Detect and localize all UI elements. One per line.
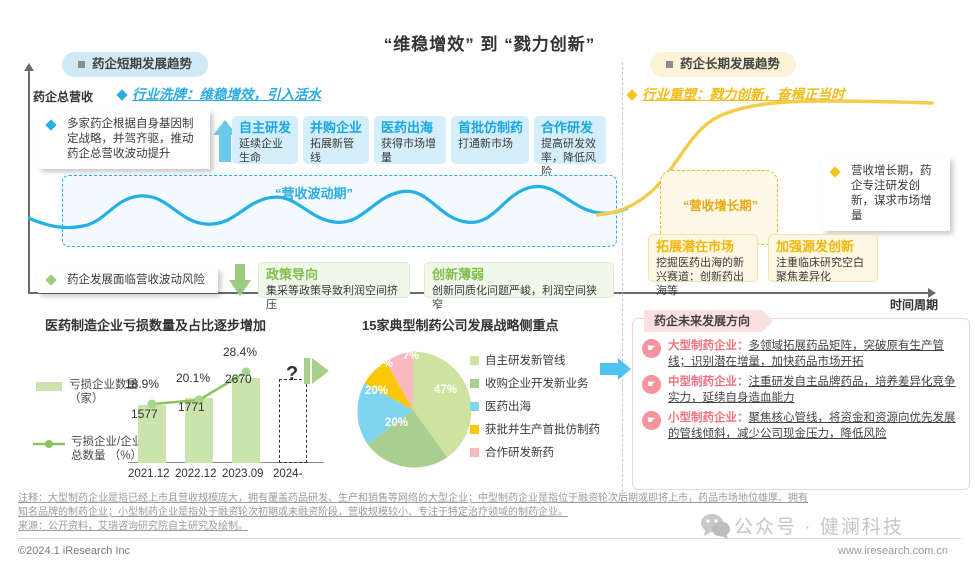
diamond-bullet-icon xyxy=(116,90,127,101)
pie-value-2: 20% xyxy=(365,385,388,397)
infographic-root: “维稳增效” 到 “戮力创新” 药企总营收 时间周期 药企短期发展趋势 药企长期… xyxy=(0,0,979,565)
long-term-note: 营收增长期，药企专注研发创新，谋求市场增量 xyxy=(822,157,950,231)
y-axis-label: 药企总营收 xyxy=(33,88,93,105)
legend-swatch-icon xyxy=(470,425,479,434)
transition-arrow-tail xyxy=(304,358,310,384)
long-term-card-0[interactable]: 拓展潜在市场挖掘医药出海的新兴赛道：创新药出海等 xyxy=(648,234,758,282)
future-item-0: ☛ 大型制药企业：多领域拓展药品矩阵，突破原有生产管线；识别潜在增量，加快药品市… xyxy=(642,338,962,370)
legend-swatch-icon xyxy=(470,379,479,388)
pct-label-2022: 20.1% xyxy=(176,371,210,385)
revenue-wave-curve xyxy=(28,160,628,260)
future-item-2: ☛ 小型制药企业：聚焦核心管线，将资金和资源向优先发展的管线倾斜，减少公司现金压… xyxy=(642,410,962,442)
pie-value-3: 7% xyxy=(377,358,393,370)
diamond-bullet-icon xyxy=(45,274,56,285)
long-term-pill: 药企长期发展趋势 xyxy=(650,52,796,77)
bar-chart: 亏损企业数量（家） 亏损企业/企业总数量 （%） 18.9% xyxy=(24,335,324,480)
strategy-card-1[interactable]: 并购企业拓展新管线 xyxy=(303,116,369,164)
short-term-pill-label: 药企短期发展趋势 xyxy=(92,57,192,71)
x-label-2024: 2024- xyxy=(273,468,302,480)
risk-note-text: 药企发展面临营收波动风险 xyxy=(67,273,209,288)
pointing-hand-icon: ☛ xyxy=(642,411,661,430)
copyright: ©2024.1 iResearch Inc xyxy=(18,545,130,557)
bar-value-2024: ? xyxy=(286,363,298,386)
pie-legend-item-3: 获批并生产首批仿制药 xyxy=(470,421,600,437)
x-label-2022: 2022.12 xyxy=(175,468,217,480)
pct-label-2023: 28.4% xyxy=(223,345,257,359)
pointing-hand-icon: ☛ xyxy=(642,339,661,358)
wechat-icon xyxy=(700,512,730,538)
transition-arrow-icon xyxy=(312,358,329,384)
legend-swatch-bar xyxy=(36,382,62,391)
pie-legend-item-1: 收购企业开发新业务 xyxy=(470,375,600,391)
pct-label-2021: 18.9% xyxy=(125,377,159,391)
pie-chart-title: 15家典型制药公司发展战略侧重点 xyxy=(362,315,558,334)
bar-value-2022: 1771 xyxy=(178,400,205,414)
x-label-2023: 2023.09 xyxy=(222,468,264,480)
pie-value-4: 7% xyxy=(403,350,419,362)
pie-legend-item-4: 合作研发新药 xyxy=(470,444,600,460)
square-bullet-icon xyxy=(666,61,673,68)
pie-legend: 自主研发新管线 收购企业开发新业务 医药出海 获批并生产首批仿制药 合作研发新药 xyxy=(470,352,600,467)
bar-chart-title: 医药制造企业亏损数量及占比逐步增加 xyxy=(45,315,266,334)
square-bullet-icon xyxy=(78,61,85,68)
legend-swatch-icon xyxy=(470,356,479,365)
website-url: www.iresearch.com.cn xyxy=(838,545,948,557)
bar-plot-area: 18.9% 20.1% 28.4% 1577 1771 2670 ? xyxy=(128,345,324,463)
x-label-2021: 2021.12 xyxy=(128,468,170,480)
footnote-line-1: 注释：大型制药企业是指已经上市且营收规模庞大，拥有覆盖药品研发、生产和销售等网络… xyxy=(18,492,808,506)
strategy-card-3[interactable]: 首批仿制药打通新市场 xyxy=(451,116,529,164)
long-term-note-text: 营收增长期，药企专注研发创新，谋求市场增量 xyxy=(851,164,941,224)
legend-swatch-icon xyxy=(470,448,479,457)
future-arrow-icon xyxy=(600,358,632,382)
long-term-pill-label: 药企长期发展趋势 xyxy=(680,57,780,71)
bar-value-2023: 2670 xyxy=(225,372,252,386)
revenue-growth-label: “营收增长期” xyxy=(668,195,773,214)
short-term-bottom-note: 药企发展面临营收波动风险 xyxy=(38,268,218,293)
footnote-line-3: 来源：公开资料，艾瑞咨询研究院自主研究及绘制。 xyxy=(18,520,248,534)
future-item-2-key: 小型制药企业： xyxy=(668,412,749,424)
wechat-account: 公众号 · 健澜科技 xyxy=(734,512,904,539)
strategy-card-2[interactable]: 医药出海获得市场增量 xyxy=(374,116,446,164)
short-term-pill: 药企短期发展趋势 xyxy=(62,52,208,77)
risk-card-1[interactable]: 创新薄弱创新同质化问题严峻，利润空间狭窄 xyxy=(424,262,614,298)
future-item-1-key: 中型制药企业： xyxy=(668,376,749,388)
pie-value-1: 20% xyxy=(385,417,408,429)
diamond-bullet-icon xyxy=(829,166,840,177)
future-item-1: ☛ 中型制药企业：注重研发自主品牌药品，培养差异化竞争实力，延续自身造血能力 xyxy=(642,374,962,406)
pie-legend-item-0: 自主研发新管线 xyxy=(470,352,600,368)
risk-card-0[interactable]: 政策导向集采等政策导致利润空间挤压 xyxy=(258,262,410,298)
future-item-0-key: 大型制药企业： xyxy=(668,340,749,352)
strategy-card-0[interactable]: 自主研发延续企业生命 xyxy=(232,116,298,164)
down-arrow-icon xyxy=(228,262,252,298)
pie-value-0: 47% xyxy=(434,384,457,396)
footnote-line-2: 知名品牌的制药企业；小型制药企业是指处于融资轮次初期或未融资阶段，营收规模较小、… xyxy=(18,506,568,520)
x-axis-label: 时间周期 xyxy=(890,296,938,313)
legend-swatch-icon xyxy=(470,402,479,411)
legend-line-icon xyxy=(32,437,66,451)
pie-chart xyxy=(348,345,478,475)
future-items: ☛ 大型制药企业：多领域拓展药品矩阵，突破原有生产管线；识别潜在增量，加快药品市… xyxy=(642,338,962,446)
pie-legend-item-2: 医药出海 xyxy=(470,398,600,414)
long-term-card-1[interactable]: 加强源发创新注重临床研究空白聚焦差异化 xyxy=(768,234,878,282)
short-term-headline[interactable]: 行业洗牌：维稳增效，引入活水 xyxy=(118,83,321,103)
pointing-hand-icon: ☛ xyxy=(642,375,661,394)
bar-value-2021: 1577 xyxy=(131,407,158,421)
future-direction-tag: 药企未来发展方向 xyxy=(644,310,762,332)
short-term-top-note-text: 多家药企根据自身基因制定战略，并驾齐驱，推动药企总营收波动提升 xyxy=(67,117,201,162)
diamond-bullet-icon xyxy=(45,119,56,130)
